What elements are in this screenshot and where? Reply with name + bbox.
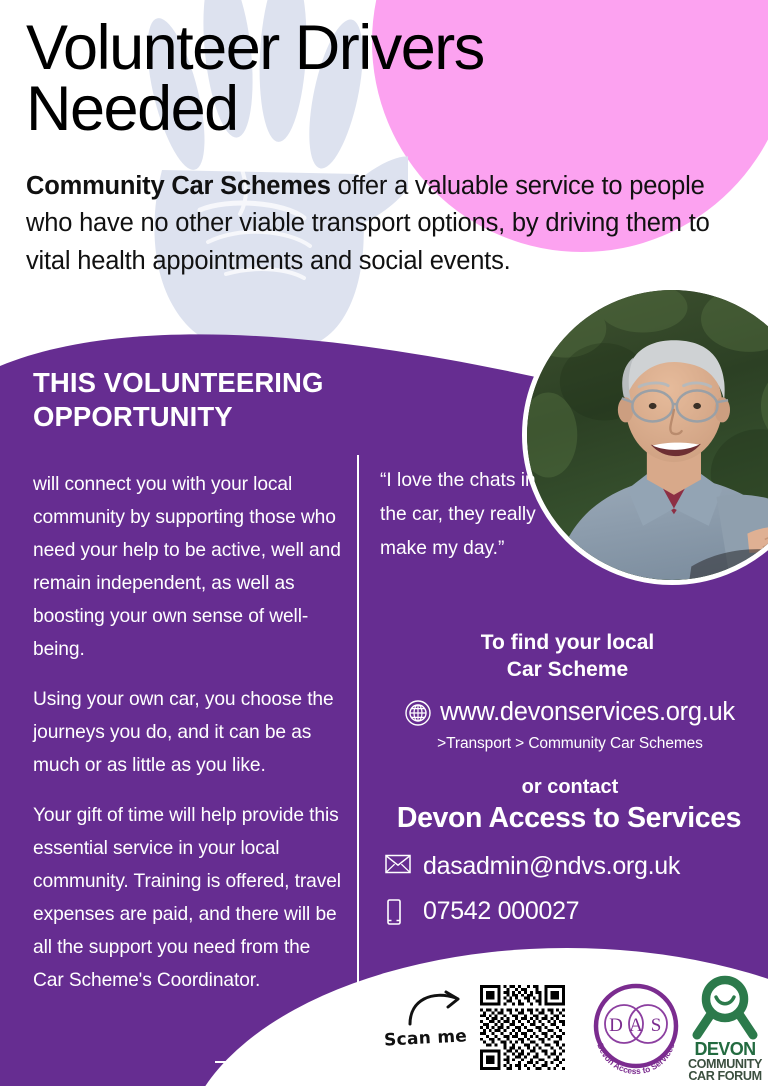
das-letter-d: D (609, 1015, 623, 1036)
globe-icon (405, 700, 431, 726)
horizontal-divider (215, 1061, 350, 1063)
vertical-divider (357, 455, 359, 1030)
website-row[interactable]: www.devonservices.org.uk (375, 698, 765, 727)
magnifying-glass-smile-icon (697, 980, 753, 1035)
dccf-line-1: DEVON (694, 1039, 755, 1059)
body-paragraph-2: Using your own car, you choose the journ… (33, 683, 345, 782)
body-paragraph-3: Your gift of time will help provide this… (33, 799, 345, 997)
dccf-line-3: CAR FORUM (688, 1069, 761, 1081)
body-copy-column: will connect you with your local communi… (33, 468, 345, 1014)
website-path: >Transport > Community Car Schemes (375, 735, 765, 753)
qr-code[interactable] (480, 985, 565, 1070)
find-local-line-1: To find your local (375, 630, 760, 657)
body-paragraph-1: will connect you with your local communi… (33, 468, 345, 666)
find-local-heading: To find your local Car Scheme (375, 630, 760, 684)
or-contact-label: or contact (375, 776, 765, 799)
das-letter-a: A (629, 1015, 643, 1036)
curved-arrow-icon (406, 988, 466, 1028)
devon-community-car-forum-logo: DEVON COMMUNITY CAR FORUM (684, 973, 766, 1081)
mobile-phone-icon (385, 899, 411, 925)
das-letter-s: S (651, 1015, 662, 1036)
das-curved-text: Devon Access to Services (595, 1042, 676, 1076)
testimonial-quote: “I love the chats in the car, they reall… (380, 464, 540, 567)
organisation-name: Devon Access to Services (370, 802, 768, 835)
scan-me-group: Scan me (386, 988, 478, 1068)
poster-canvas: Volunteer Drivers Needed Community Car S… (0, 0, 768, 1086)
email-address[interactable]: dasadmin@ndvs.org.uk (423, 852, 680, 881)
section-title-line-1: THIS VOLUNTEERING (33, 366, 363, 400)
section-title-line-2: OPPORTUNITY (33, 400, 363, 434)
website-url[interactable]: www.devonservices.org.uk (440, 698, 735, 727)
phone-row[interactable]: 07542 000027 (385, 897, 579, 926)
email-row[interactable]: dasadmin@ndvs.org.uk (385, 852, 680, 881)
phone-number[interactable]: 07542 000027 (423, 897, 579, 926)
find-local-line-2: Car Scheme (375, 657, 760, 684)
scan-me-label: Scan me (384, 1025, 485, 1050)
envelope-icon (385, 854, 411, 880)
section-title: THIS VOLUNTEERING OPPORTUNITY (33, 366, 363, 433)
das-logo: D A S Devon Access to Services (586, 976, 686, 1080)
